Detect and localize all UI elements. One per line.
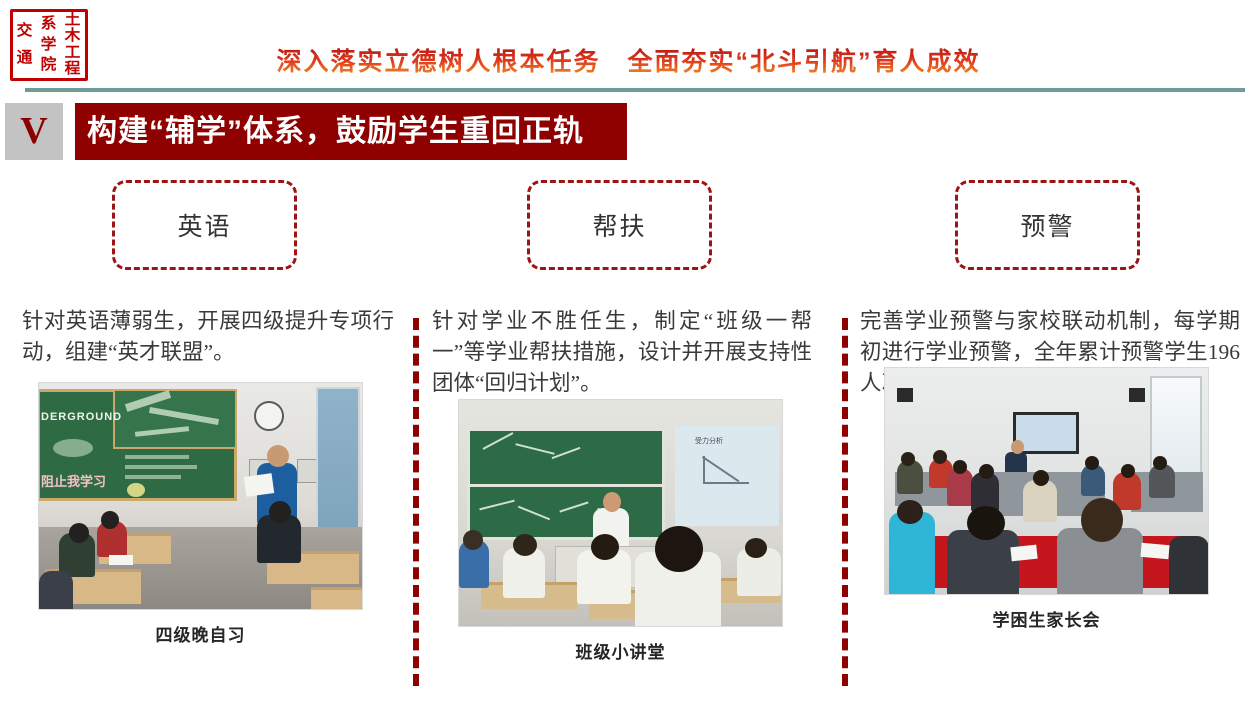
photo3-person-2-head — [933, 450, 947, 464]
photo3-person-3-head — [953, 460, 967, 474]
photo2-student-5-head — [745, 538, 767, 558]
photo-evening-study: DERGROUND 阻止我学习 — [38, 382, 363, 610]
photo1-wall-clock — [254, 401, 284, 431]
section-number-badge: V — [5, 103, 63, 160]
column-warning: 预警 完善学业预警与家校联动机制，每学期初进行学业预警，全年累计预警学生196人… — [860, 180, 1240, 631]
photo1-held-paper — [244, 473, 275, 497]
photo1-chalk-art-5 — [125, 455, 189, 459]
photo1-door — [316, 387, 360, 537]
photo2-student-1-head — [463, 530, 483, 550]
photo3-front-person-4 — [1169, 536, 1209, 595]
photo2-screen-title: 受力分析 — [695, 436, 723, 446]
photo1-student-4-head — [269, 501, 291, 523]
slide-root: 交通 系学院 土木工程 深入落实立德树人根本任务 全面夯实“北斗引航”育人成效 … — [0, 0, 1257, 706]
photo1-chalk-text-underground: DERGROUND — [41, 411, 122, 423]
photo2-student-3-head — [591, 534, 619, 560]
photo3-person-1-head — [901, 452, 915, 466]
photo3-front-person-1-head — [897, 500, 923, 524]
column-english: 英语 针对英语薄弱生，开展四级提升专项行动，组建“英才联盟”。 DERGROUN… — [22, 180, 394, 646]
photo2-student-2-head — [513, 534, 537, 556]
photo3-person-6-head — [1085, 456, 1099, 470]
page-title: 构建“辅学”体系，鼓励学生重回正轨 — [75, 103, 627, 160]
photo3-person-8-head — [1153, 456, 1167, 470]
photo1-chalk-art-4 — [53, 439, 93, 457]
photo2-projector-screen — [675, 426, 779, 526]
photo1-student-1-head — [69, 523, 89, 543]
body-text-support: 针对学业不胜任生，制定“班级一帮一”等学业帮扶措施，设计并开展支持性团体“回归计… — [432, 306, 812, 399]
photo3-speaker-right — [1129, 388, 1145, 402]
column-support: 帮扶 针对学业不胜任生，制定“班级一帮一”等学业帮扶措施，设计并开展支持性团体“… — [432, 180, 812, 663]
caption-parents-meeting: 学困生家长会 — [884, 606, 1209, 631]
header-slogan: 深入落实立德树人根本任务 全面夯实“北斗引航”育人成效 — [0, 45, 1257, 79]
photo-class-lecture: 受力分析 — [458, 399, 783, 627]
photo3-person-4-head — [979, 464, 994, 479]
photo1-chalk-text-slogan: 阻止我学习 — [41, 471, 106, 490]
photo3-front-person-1 — [889, 512, 935, 595]
tag-warning: 预警 — [955, 180, 1140, 270]
photo3-speaker-left — [897, 388, 913, 402]
photo1-student-3 — [39, 571, 73, 610]
photo1-paper-on-desk — [109, 555, 133, 565]
photo1-chalk-art-8 — [127, 483, 145, 497]
photo2-student-4-head — [655, 526, 703, 572]
content-columns: 英语 针对英语薄弱生，开展四级提升专项行动，组建“英才联盟”。 DERGROUN… — [0, 180, 1257, 706]
photo3-paper-2 — [1140, 543, 1169, 559]
photo3-person-5-head — [1033, 470, 1049, 486]
photo-parents-meeting — [884, 367, 1209, 595]
body-text-english: 针对英语薄弱生，开展四级提升专项行动，组建“英才联盟”。 — [22, 306, 394, 368]
photo3-person-5 — [1023, 480, 1057, 522]
photo2-presenter-head — [603, 492, 621, 512]
photo2-chalkboard-divider — [467, 484, 665, 487]
tag-support: 帮扶 — [527, 180, 712, 270]
photo3-presenter-head — [1011, 440, 1024, 454]
photo3-front-person-3-head — [1081, 498, 1123, 542]
photo1-desk-4 — [311, 587, 363, 610]
photo3-front-person-2-head — [967, 506, 1005, 540]
caption-class-lecture: 班级小讲堂 — [458, 638, 783, 663]
photo1-standing-person-head — [267, 445, 289, 467]
caption-evening-study: 四级晚自习 — [38, 621, 363, 646]
photo1-chalk-art-7 — [125, 475, 181, 479]
tag-english: 英语 — [112, 180, 297, 270]
photo2-screen-diagram-3 — [703, 482, 749, 484]
photo1-student-2-head — [101, 511, 119, 529]
photo1-chalk-art-6 — [125, 465, 197, 469]
header-divider — [25, 88, 1245, 92]
photo3-paper-1 — [1010, 545, 1037, 562]
photo3-person-7-head — [1121, 464, 1135, 478]
